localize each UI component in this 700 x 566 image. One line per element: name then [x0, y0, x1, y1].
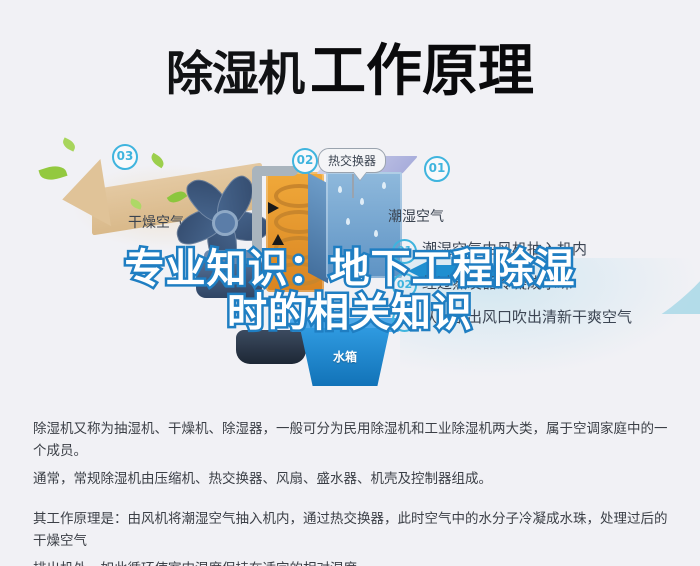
- step-text: 从上部出风口吹出清新干爽空气: [422, 306, 632, 327]
- body-paragraph-3: 其工作原理是：由风机将潮湿空气抽入机内，通过热交换器，此时空气中的水分子冷凝成水…: [33, 508, 673, 552]
- page-title: 除湿机工作原理: [0, 26, 700, 107]
- page-root: 除湿机工作原理 03 干燥空气: [0, 0, 700, 566]
- step-text: 经过蒸发器冷凝成水珠: [422, 272, 572, 293]
- callout-stem: [352, 174, 354, 198]
- article-body: 除湿机又称为抽湿机、干燥机、除湿器，一般可分为民用除湿机和工业除湿机两大类，属于…: [33, 418, 673, 566]
- badge-03-dry-air: 03: [112, 144, 138, 170]
- step-item: 03 从上部出风口吹出清新干爽空气: [392, 304, 692, 338]
- water-tank-label: 水箱: [290, 348, 400, 365]
- step-number: 02: [392, 273, 417, 298]
- paragraph-spacer: [33, 496, 673, 508]
- step-text: 潮湿空气由风机抽入机内: [422, 238, 587, 259]
- step-item: 02 经过蒸发器冷凝成水珠: [392, 270, 692, 304]
- badge-02-heat-exchanger: 02: [292, 148, 318, 174]
- flow-arrow-right-icon: [268, 202, 279, 214]
- step-number: 01: [392, 239, 417, 264]
- heat-exchanger-callout: 热交换器: [318, 148, 386, 173]
- callout-label: 热交换器: [328, 154, 376, 168]
- title-part-principle: 工作原理: [310, 39, 534, 104]
- label-humid-air: 潮湿空气: [388, 206, 444, 226]
- body-paragraph-1: 除湿机又称为抽湿机、干燥机、除湿器，一般可分为民用除湿机和工业除湿机两大类，属于…: [33, 418, 673, 462]
- step-list: 01 潮湿空气由风机抽入机内 02 经过蒸发器冷凝成水珠 03 从上部出风口吹出…: [392, 236, 692, 338]
- badge-01-humid-air: 01: [424, 156, 450, 182]
- step-item: 01 潮湿空气由风机抽入机内: [392, 236, 692, 270]
- step-number: 03: [392, 307, 417, 332]
- body-paragraph-4: 排出机外，如此循环使室内湿度保持在适宜的相对湿度。: [33, 558, 673, 566]
- flow-arrow-left-icon: [246, 258, 257, 270]
- body-paragraph-2: 通常，常规除湿机由压缩机、热交换器、风扇、盛水器、机壳及控制器组成。: [33, 468, 673, 490]
- title-part-dehumidifier: 除湿机: [166, 47, 304, 102]
- flow-arrow-up-icon: [272, 234, 284, 245]
- label-dry-air: 干燥空气: [128, 212, 184, 232]
- water-tank: 水箱: [290, 318, 400, 392]
